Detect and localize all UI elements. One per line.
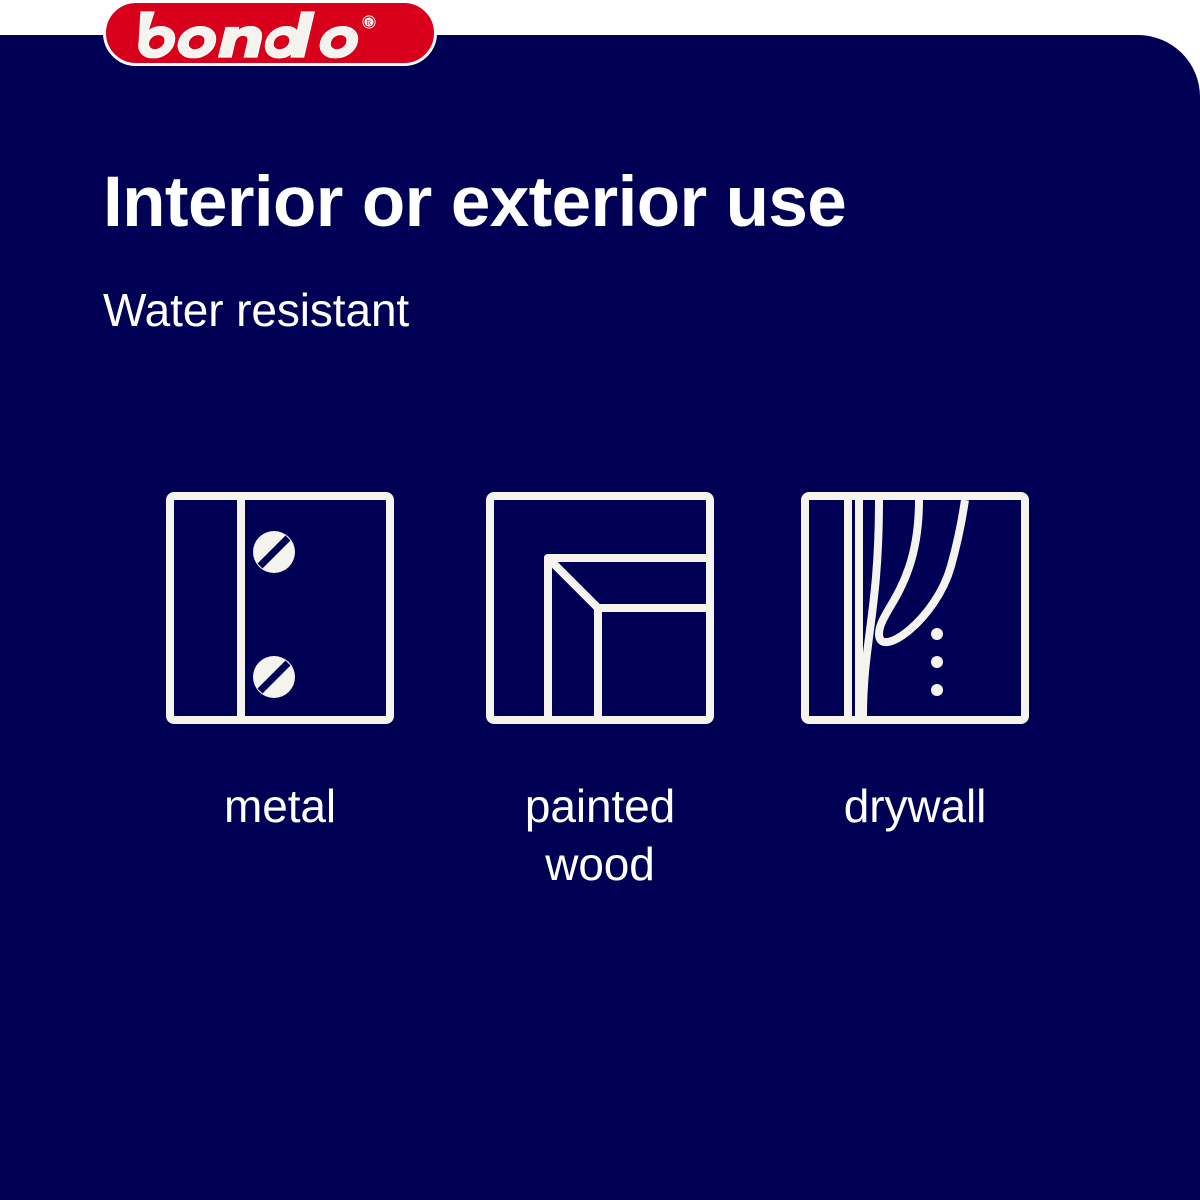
screw-head-icon xyxy=(253,656,295,698)
surface-label-line2: wood xyxy=(440,835,760,893)
screw-head-icon xyxy=(253,531,295,573)
registered-trademark-icon: R xyxy=(362,15,375,28)
metal-panel-icon xyxy=(166,492,394,724)
surface-label-drywall: drywall xyxy=(755,777,1075,835)
svg-text:R: R xyxy=(367,19,372,27)
painted-wood-corner-icon xyxy=(486,492,714,724)
surface-label-line1: painted xyxy=(440,777,760,835)
screenshot-root: R Interior or exterior use Water resista… xyxy=(0,0,1200,1200)
page-subtitle: Water resistant xyxy=(103,283,409,337)
page-title: Interior or exterior use xyxy=(103,163,846,243)
surface-item-painted-wood: painted wood xyxy=(440,492,760,893)
surface-label-metal: metal xyxy=(120,777,440,835)
surface-item-metal: metal xyxy=(120,492,440,835)
drywall-icon xyxy=(801,492,1029,724)
surface-icon-row: metal painted wo xyxy=(0,492,1200,912)
surface-item-drywall: drywall xyxy=(755,492,1075,835)
drywall-dot-icon xyxy=(931,628,943,696)
surface-label-painted-wood: painted wood xyxy=(440,777,760,893)
bondo-logo: R xyxy=(103,0,437,66)
